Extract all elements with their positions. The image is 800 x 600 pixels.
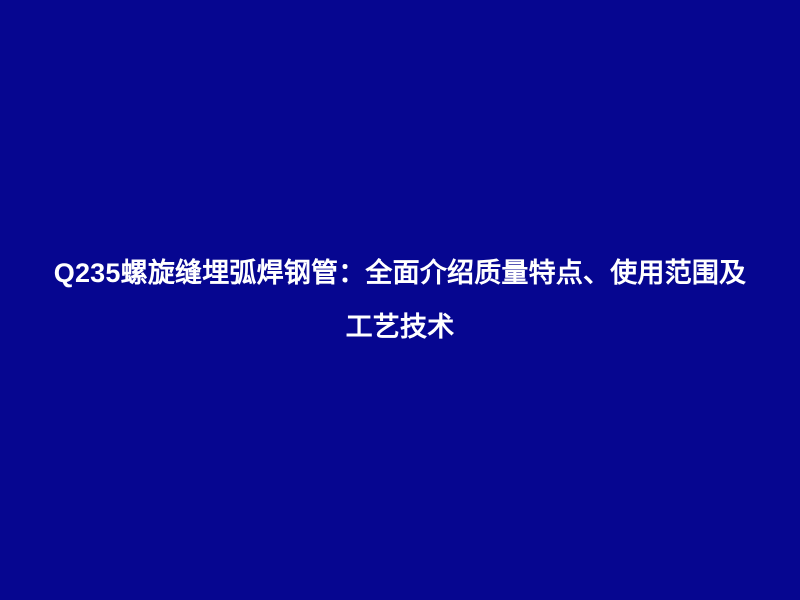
page-title: Q235螺旋缝埋弧焊钢管：全面介绍质量特点、使用范围及工艺技术 [44, 246, 756, 354]
title-slide: Q235螺旋缝埋弧焊钢管：全面介绍质量特点、使用范围及工艺技术 [0, 0, 800, 600]
title-block: Q235螺旋缝埋弧焊钢管：全面介绍质量特点、使用范围及工艺技术 [44, 246, 756, 354]
